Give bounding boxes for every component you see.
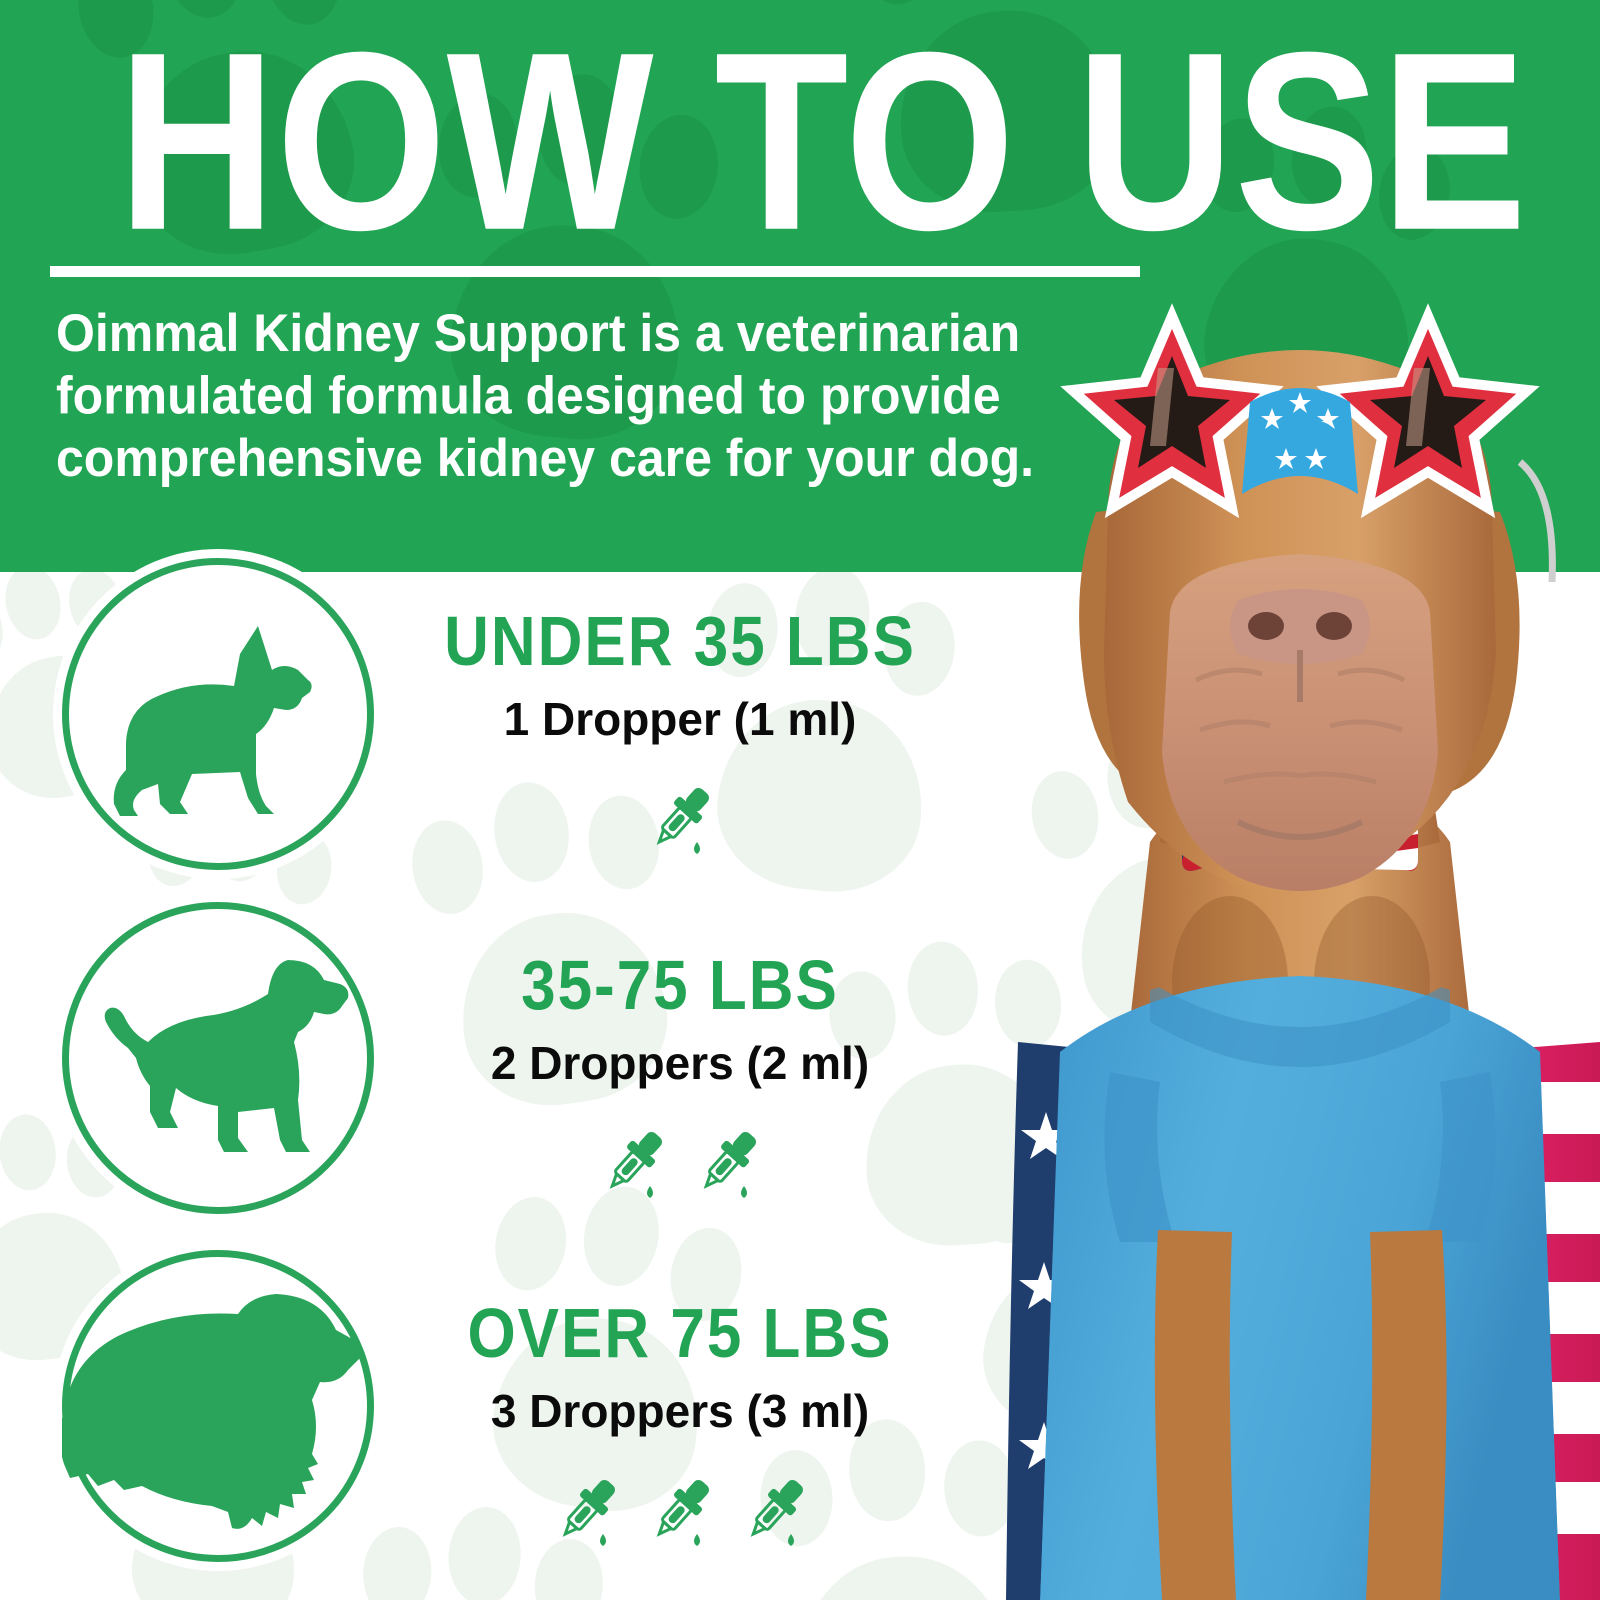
- weight-range-label: OVER 75 LBS: [400, 1300, 960, 1369]
- blue-tshirt: [1040, 976, 1560, 1600]
- dropper-icon: [745, 1472, 803, 1550]
- dosage-text: UNDER 35 LBS 1 Dropper (1 ml): [400, 608, 960, 742]
- medium-dog-icon: [62, 902, 374, 1214]
- small-dog-icon: [62, 558, 374, 870]
- dose-amount-label: 2 Droppers (2 ml): [400, 1040, 960, 1086]
- intro-paragraph: Oimmal Kidney Support is a veterinarian …: [56, 302, 1116, 490]
- title-divider: [50, 266, 1140, 277]
- page-title: HOW TO USE: [42, 14, 1600, 268]
- dropper-icon: [651, 780, 709, 858]
- medium-dog-icon-circle: [62, 902, 374, 1214]
- dropper-icon: [651, 1472, 709, 1550]
- dosage-text: 35-75 LBS 2 Droppers (2 ml): [400, 952, 960, 1086]
- how-to-use-infographic: HOW TO USE Oimmal Kidney Support is a ve…: [0, 0, 1600, 1600]
- dosage-row: UNDER 35 LBS 1 Dropper (1 ml): [0, 548, 1020, 888]
- large-dog-icon-circle: [62, 1250, 374, 1562]
- weight-range-label: UNDER 35 LBS: [400, 608, 960, 677]
- dropper-icon: [698, 1124, 756, 1202]
- dosage-text: OVER 75 LBS 3 Droppers (3 ml): [400, 1300, 960, 1434]
- dose-amount-label: 1 Dropper (1 ml): [400, 696, 960, 742]
- dosage-row: OVER 75 LBS 3 Droppers (3 ml): [0, 1240, 1020, 1580]
- dropper-icon: [604, 1124, 662, 1202]
- dosage-row: 35-75 LBS 2 Droppers (2 ml): [0, 892, 1020, 1232]
- dropper-icon: [557, 1472, 615, 1550]
- dropper-icon-group: [400, 780, 960, 858]
- weight-range-label: 35-75 LBS: [400, 952, 960, 1021]
- dropper-icon-group: [400, 1472, 960, 1550]
- patriotic-dog-photo: [1000, 282, 1600, 1600]
- small-dog-icon-circle: [62, 558, 374, 870]
- dropper-icon-group: [400, 1124, 960, 1202]
- dose-amount-label: 3 Droppers (3 ml): [400, 1388, 960, 1434]
- large-dog-icon: [62, 1250, 374, 1562]
